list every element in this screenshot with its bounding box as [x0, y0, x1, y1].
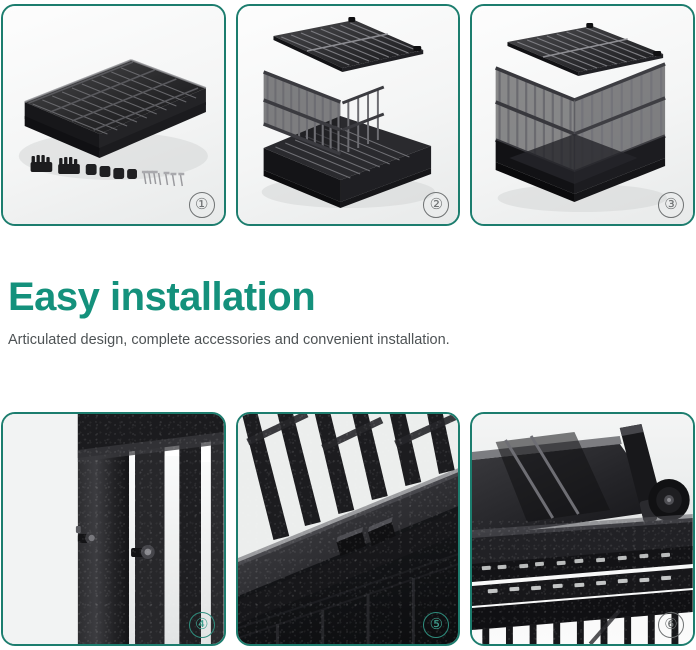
step-panel-3[interactable]: ③ [470, 4, 695, 226]
step-panel-5[interactable]: ⑤ [236, 412, 461, 646]
step-panel-4[interactable]: ④ [1, 412, 226, 646]
step-4-photo [3, 414, 224, 644]
step-3-photo [472, 6, 693, 224]
steps-row-top: ① [0, 4, 696, 226]
product-feature-infographic: ① [0, 0, 696, 650]
hinge-closeup-illustration [238, 414, 459, 644]
roof-panel-open [508, 23, 664, 76]
step-5-photo [238, 414, 459, 644]
page-title: Easy installation [8, 274, 608, 320]
step-badge-4: ④ [189, 612, 215, 638]
steps-row-bottom: ④ [0, 412, 696, 646]
step-1-photo [3, 6, 224, 224]
step-badge-6: ⑥ [658, 612, 684, 638]
page-subtitle: Articulated design, complete accessories… [8, 330, 608, 350]
step-6-photo [472, 414, 693, 644]
headline-block: Easy installation Articulated design, co… [8, 274, 608, 350]
step-badge-1: ① [189, 192, 215, 218]
step-panel-1[interactable]: ① [1, 4, 226, 226]
assembled-cage-illustration [472, 6, 693, 224]
roof-panel [273, 17, 423, 72]
flat-pack-illustration [3, 6, 224, 224]
step-badge-3: ③ [658, 192, 684, 218]
sliding-tray-caster-illustration [472, 414, 693, 644]
base-and-roof-illustration [238, 6, 459, 224]
step-panel-2[interactable]: ② [236, 4, 461, 226]
step-2-photo [238, 6, 459, 224]
bar-fastener-closeup-illustration [3, 414, 224, 644]
step-panel-6[interactable]: ⑥ [470, 412, 695, 646]
